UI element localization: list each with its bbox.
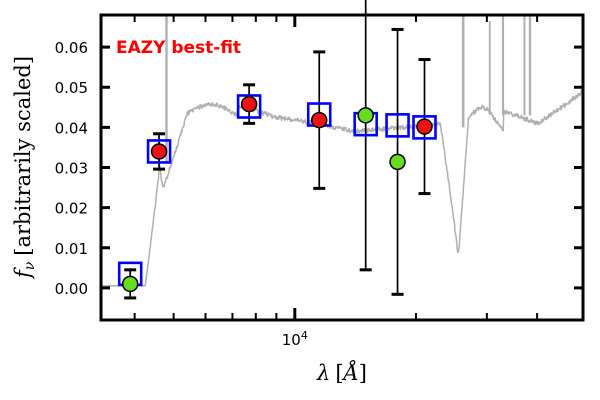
x-tick-label: 104 bbox=[282, 329, 308, 349]
photometry-point bbox=[152, 144, 167, 159]
y-tick-label: 0.03 bbox=[55, 160, 88, 178]
x-axis-label-lambda: λ bbox=[316, 361, 330, 385]
y-tick-label: 0.00 bbox=[55, 280, 88, 298]
svg-text:λ[Å]: λ[Å] bbox=[316, 360, 367, 385]
y-axis-label: fν[arbitrarily scaled] bbox=[11, 56, 38, 280]
y-tick-label: 0.01 bbox=[55, 240, 88, 258]
y-axis-label-nu: ν bbox=[22, 261, 38, 270]
x-axis-label-angstrom: Å bbox=[341, 360, 359, 385]
photometry-point bbox=[358, 108, 373, 123]
x-axis-tick-labels: 104 bbox=[282, 329, 308, 349]
photometry-point bbox=[123, 276, 138, 291]
x-tick-label-base: 10 bbox=[282, 331, 301, 349]
eazy-best-fit-annotation: EAZY best-fit bbox=[116, 38, 241, 58]
sed-figure: 0.000.010.020.030.040.050.06 104 λ[Å] fν… bbox=[0, 0, 600, 400]
y-tick-label: 0.02 bbox=[55, 200, 88, 218]
y-axis-label-text: [arbitrarily scaled] bbox=[11, 56, 35, 256]
x-tick-label-exponent: 4 bbox=[301, 329, 308, 342]
x-axis-label: λ[Å] bbox=[316, 360, 367, 385]
y-tick-label: 0.06 bbox=[55, 39, 88, 57]
photometry-point bbox=[242, 97, 257, 112]
plot-area-background bbox=[101, 15, 583, 320]
x-axis-label-units: [ bbox=[335, 361, 343, 385]
plot-canvas: 0.000.010.020.030.040.050.06 104 λ[Å] fν… bbox=[0, 0, 600, 400]
y-tick-label: 0.05 bbox=[55, 79, 88, 97]
x-axis-label-bracket: ] bbox=[359, 361, 367, 385]
svg-text:fν[arbitrarily scaled]: fν[arbitrarily scaled] bbox=[11, 56, 38, 280]
photometry-point bbox=[417, 119, 432, 134]
y-tick-label: 0.04 bbox=[55, 119, 88, 137]
photometry-point bbox=[312, 113, 327, 128]
photometry-point bbox=[390, 154, 405, 169]
y-axis-tick-labels: 0.000.010.020.030.040.050.06 bbox=[55, 39, 88, 298]
